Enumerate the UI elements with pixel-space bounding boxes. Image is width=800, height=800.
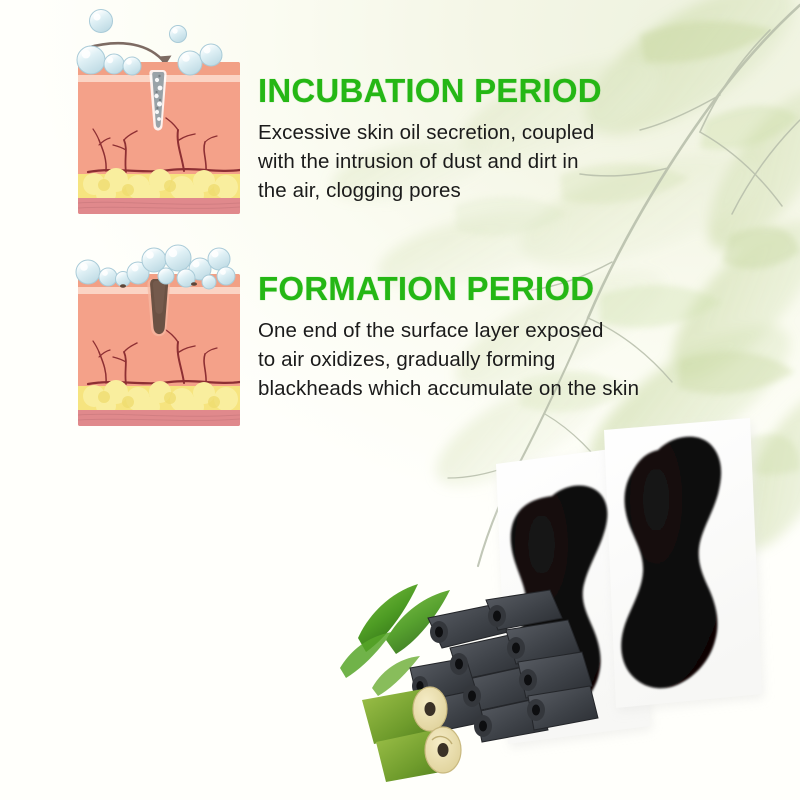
section-incubation-heading: INCUBATION PERIOD xyxy=(258,74,678,107)
section-incubation-body-line-2: with the intrusion of dust and dirt in xyxy=(258,147,678,176)
skin-cross-section-clogged-pore xyxy=(66,4,252,228)
infographic-page: INCUBATION PERIOD Excessive skin oil sec… xyxy=(0,0,800,800)
section-incubation: INCUBATION PERIOD Excessive skin oil sec… xyxy=(258,74,678,205)
section-formation: FORMATION PERIOD One end of the surface … xyxy=(258,272,708,403)
section-formation-body-line-1: One end of the surface layer exposed xyxy=(258,316,708,345)
section-formation-heading: FORMATION PERIOD xyxy=(258,272,708,305)
bamboo-stalk-cut xyxy=(362,687,461,782)
section-formation-body-line-3: blackheads which accumulate on the skin xyxy=(258,374,708,403)
skin-cross-section-blackhead xyxy=(66,236,252,430)
section-incubation-body-line-1: Excessive skin oil secretion, coupled xyxy=(258,118,678,147)
section-incubation-body: Excessive skin oil secretion, coupled wi… xyxy=(258,118,678,205)
charcoal-nose-strips-photo xyxy=(300,400,800,800)
section-incubation-body-line-3: the air, clogging pores xyxy=(258,176,678,205)
section-formation-body-line-2: to air oxidizes, gradually forming xyxy=(258,345,708,374)
section-formation-body: One end of the surface layer exposed to … xyxy=(258,316,708,403)
